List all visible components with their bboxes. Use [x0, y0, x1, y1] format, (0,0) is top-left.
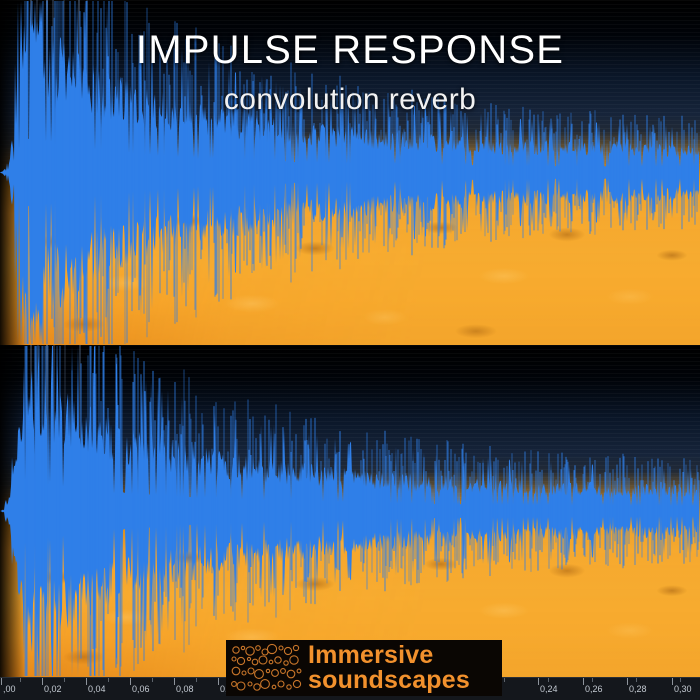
ruler-minor-tick — [504, 678, 505, 682]
ruler-minor-tick — [196, 678, 197, 682]
brand-logo[interactable]: Immersive soundscapes — [226, 640, 502, 696]
ruler-minor-tick — [548, 678, 549, 682]
waveform-body — [0, 1, 699, 344]
ruler-minor-tick — [680, 678, 681, 682]
brand-logo-line2: soundscapes — [308, 668, 470, 693]
ruler-tick-label: 0,06 — [130, 684, 150, 695]
ruler-minor-tick — [152, 678, 153, 682]
waveform-channel-1[interactable] — [0, 0, 700, 345]
ruler-tick-label: 0,24 — [538, 684, 558, 695]
ruler-minor-tick — [592, 678, 593, 682]
ruler-minor-tick — [20, 678, 21, 682]
waveform-channel-2[interactable] — [0, 345, 700, 677]
ruler-minor-tick — [64, 678, 65, 682]
ruler-tick-label: 0,28 — [627, 684, 647, 695]
ruler-tick-label: ,00 — [1, 684, 16, 695]
brand-logo-text: Immersive soundscapes — [308, 643, 470, 693]
waveform-plot-channel-1 — [0, 0, 700, 345]
waveform-body — [0, 346, 699, 676]
waveform-plot-channel-2 — [0, 345, 700, 677]
ruler-tick-label: 0,02 — [42, 684, 62, 695]
ruler-tick-label: 0,04 — [86, 684, 106, 695]
ruler-minor-tick — [636, 678, 637, 682]
ruler-tick-label: 0,30 — [672, 684, 692, 695]
ruler-tick-label: 0,08 — [174, 684, 194, 695]
audio-editor-artwork: IMPULSE RESPONSE convolution reverb — [0, 0, 700, 700]
ruler-tick-label: 0,26 — [583, 684, 603, 695]
bubbles-icon — [230, 643, 302, 693]
brand-logo-line1: Immersive — [308, 641, 434, 669]
ruler-minor-tick — [108, 678, 109, 682]
